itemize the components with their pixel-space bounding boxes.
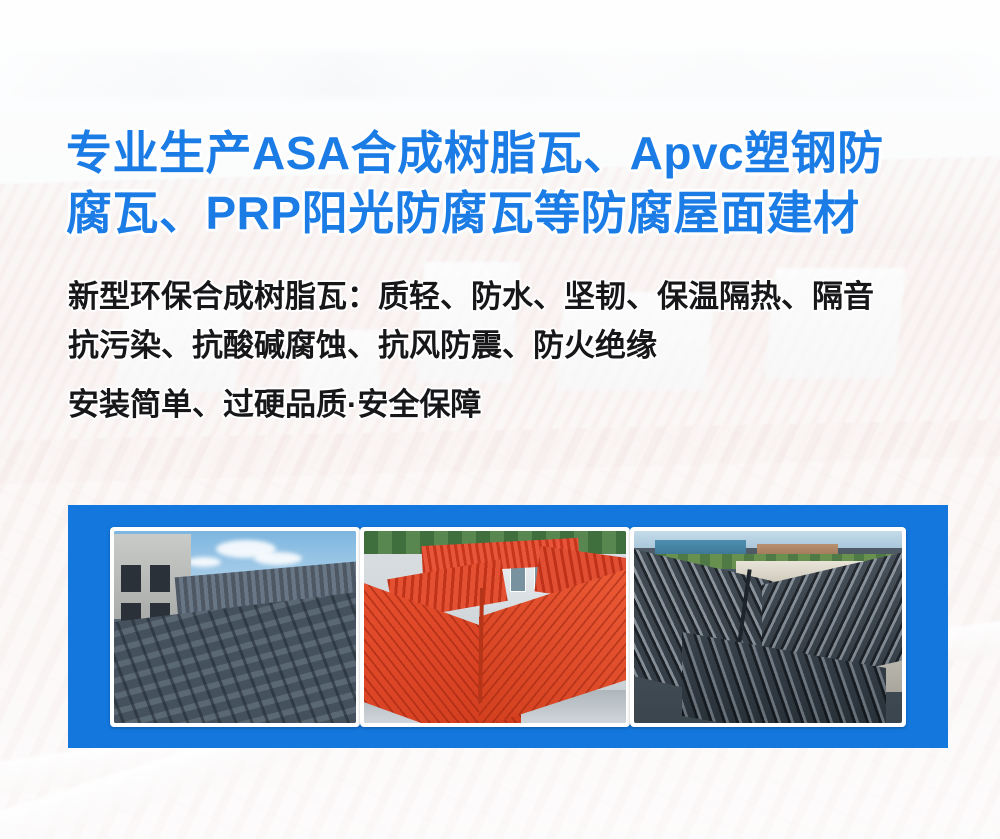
subcopy-line-3: 安装简单、过硬品质·安全保障 [68,380,958,429]
gallery-row [68,505,948,748]
photo-cloud [254,552,302,565]
gallery-panel [68,505,948,748]
subcopy-line-2: 抗污染、抗酸碱腐蚀、抗风防震、防火绝缘 [68,321,958,370]
headline-line-1: 专业生产ASA合成树脂瓦、Apvc塑钢防 [66,123,946,183]
photo-frame-1[interactable] [110,527,360,727]
red-asa-tile-roof-photo [364,531,626,723]
banner-content: 专业生产ASA合成树脂瓦、Apvc塑钢防 腐瓦、PRP阳光防腐瓦等防腐屋面建材 … [0,0,1000,839]
photo-window [121,565,140,592]
headline: 专业生产ASA合成树脂瓦、Apvc塑钢防 腐瓦、PRP阳光防腐瓦等防腐屋面建材 [66,123,946,243]
photo-frame-2[interactable] [360,527,630,727]
grey-barrel-tile-roof-photo [114,531,356,723]
photo-window [510,565,526,592]
photo-frame-3[interactable] [630,527,906,727]
photo-window [150,565,169,592]
headline-line-2: 腐瓦、PRP阳光防腐瓦等防腐屋面建材 [66,183,946,243]
subcopy: 新型环保合成树脂瓦：质轻、防水、坚韧、保温隔热、隔音 抗污染、抗酸碱腐蚀、抗风防… [68,272,958,429]
subcopy-line-1: 新型环保合成树脂瓦：质轻、防水、坚韧、保温隔热、隔音 [68,272,958,321]
product-banner: 专业生产ASA合成树脂瓦、Apvc塑钢防 腐瓦、PRP阳光防腐瓦等防腐屋面建材 … [0,0,1000,839]
dark-grey-tile-roof-photo [634,531,902,723]
